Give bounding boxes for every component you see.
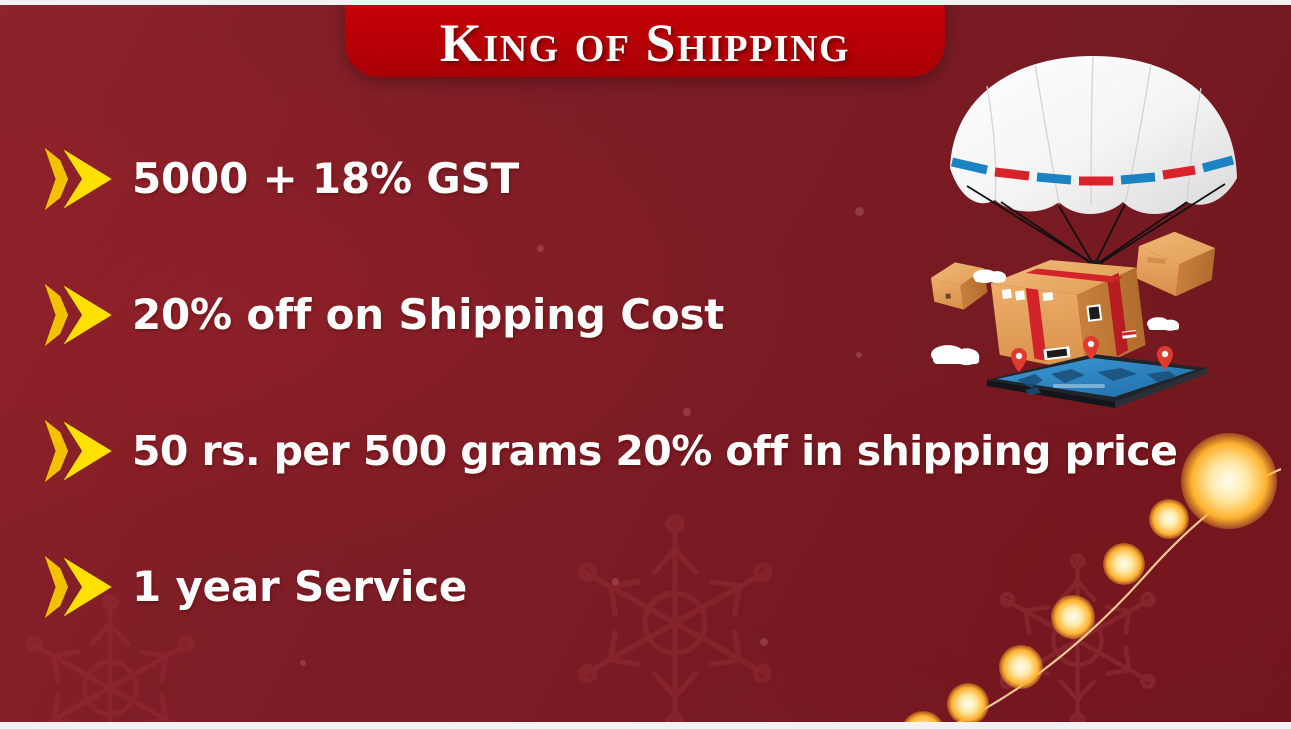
feature-label: 50 rs. per 500 grams 20% off in shipping… [132,431,1177,472]
feature-label: 20% off on Shipping Cost [132,294,724,336]
bokeh-dot [300,660,306,666]
feature-label: 1 year Service [132,566,467,608]
feature-label: 5000 + 18% GST [132,158,519,200]
double-chevron-right-icon [40,548,118,626]
double-chevron-right-icon [40,140,118,218]
double-chevron-right-icon [40,276,118,354]
feature-item-shipping-disc: 20% off on Shipping Cost [40,276,1250,354]
bottom-edge-strip [0,722,1291,729]
feature-item-price-gst: 5000 + 18% GST [40,140,1250,218]
double-chevron-right-icon [40,412,118,490]
promo-banner: King of Shipping [0,0,1291,729]
light-bulb [999,645,1043,689]
bokeh-dot [760,638,768,646]
light-bulb [901,711,945,729]
feature-item-service-period: 1 year Service [40,548,1250,626]
light-bulb [947,683,989,725]
title-plate: King of Shipping [345,0,945,77]
page-title: King of Shipping [440,16,850,70]
bokeh-dot [1010,130,1020,140]
feature-item-weight-rate: 50 rs. per 500 grams 20% off in shipping… [40,412,1250,490]
feature-list: 5000 + 18% GST 20% off on Shipping Cost … [40,140,1250,626]
